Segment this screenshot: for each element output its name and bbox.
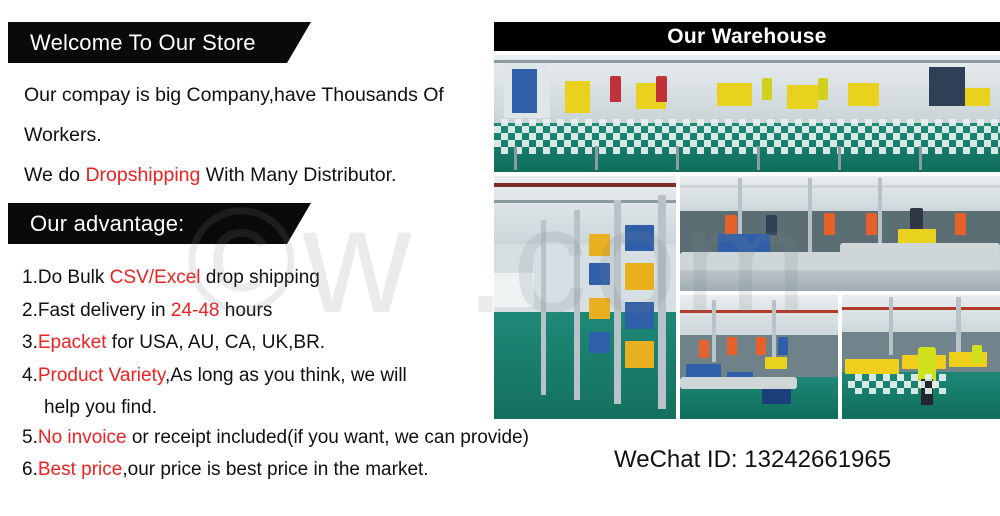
advantage-item-post: hours: [220, 300, 273, 321]
dropship-highlight: Dropshipping: [85, 164, 200, 186]
advantage-item-highlight: Best price: [38, 459, 122, 480]
intro-line-2: Workers.: [24, 120, 486, 151]
advantage-item-text: Best price,our price is best price in th…: [38, 455, 429, 485]
advantage-item-text: Fast delivery in 24-48 hours: [38, 296, 272, 326]
advantage-item-number: 6.: [22, 455, 38, 485]
advantage-item-number: 4.: [22, 361, 38, 391]
advantage-item-number: 1.: [22, 263, 38, 293]
advantage-item-post: ,our price is best price in the market.: [122, 459, 428, 480]
product-description-banner: ©w .com Welcome To Our Store Our compay …: [0, 0, 1000, 516]
advantage-item-highlight: CSV/Excel: [110, 267, 201, 288]
wechat-contact: WeChat ID: 13242661965: [614, 446, 891, 474]
photo-warehouse-assembly-row: [680, 295, 838, 419]
advantage-item-text: Do Bulk CSV/Excel drop shipping: [38, 263, 320, 293]
advantage-item-pre: Do Bulk: [38, 267, 110, 288]
photo-warehouse-sorting-conveyor: [680, 176, 1000, 291]
advantage-item-highlight: Product Variety: [38, 365, 165, 386]
store-intro-text: Our compay is big Company,have Thousands…: [24, 80, 486, 200]
advantage-item-post: ,As long as you think, we will: [165, 365, 407, 386]
warehouse-photo-grid: [494, 55, 1000, 419]
advantage-banner-label: Our advantage:: [30, 211, 184, 237]
advantage-item: 6.Best price,our price is best price in …: [22, 455, 622, 485]
welcome-banner-label: Welcome To Our Store: [30, 30, 256, 56]
advantage-item-text: Epacket for USA, AU, CA, UK,BR.: [38, 328, 325, 358]
advantage-item-highlight: Epacket: [38, 332, 107, 353]
dropship-suffix: With Many Distributor.: [200, 164, 396, 186]
photo-warehouse-yellow-crates: [842, 295, 1000, 419]
warehouse-title: Our Warehouse: [494, 22, 1000, 51]
advantage-item-post: drop shipping: [200, 267, 319, 288]
wechat-label: WeChat ID:: [614, 446, 744, 473]
wechat-id: 13242661965: [744, 446, 891, 473]
advantage-item-pre: Fast delivery in: [38, 300, 171, 321]
advantage-item-post: for USA, AU, CA, UK,BR.: [107, 332, 326, 353]
advantage-item-number: 5.: [22, 423, 38, 453]
advantage-item-number: 2.: [22, 296, 38, 326]
advantage-item-post: or receipt included(if you want, we can …: [127, 427, 529, 448]
warehouse-column: Our Warehouse: [494, 22, 1000, 419]
photo-warehouse-packing-line: [494, 55, 1000, 172]
advantage-item-text: No invoice or receipt included(if you wa…: [38, 423, 529, 453]
advantage-banner: Our advantage:: [8, 203, 311, 244]
photo-warehouse-shelving-aisle: [494, 176, 676, 419]
intro-line-1: Our compay is big Company,have Thousands…: [24, 80, 486, 111]
welcome-banner: Welcome To Our Store: [8, 22, 311, 63]
advantage-item-text: Product Variety,As long as you think, we…: [38, 361, 407, 391]
dropshipping-line: We do Dropshipping With Many Distributor…: [24, 160, 486, 191]
advantage-item-highlight: 24-48: [171, 300, 220, 321]
advantage-item: 5.No invoice or receipt included(if you …: [22, 423, 622, 453]
advantage-item-highlight: No invoice: [38, 427, 127, 448]
advantage-item-number: 3.: [22, 328, 38, 358]
dropship-prefix: We do: [24, 164, 85, 186]
store-info-column: Welcome To Our Store Our compay is big C…: [0, 0, 490, 516]
